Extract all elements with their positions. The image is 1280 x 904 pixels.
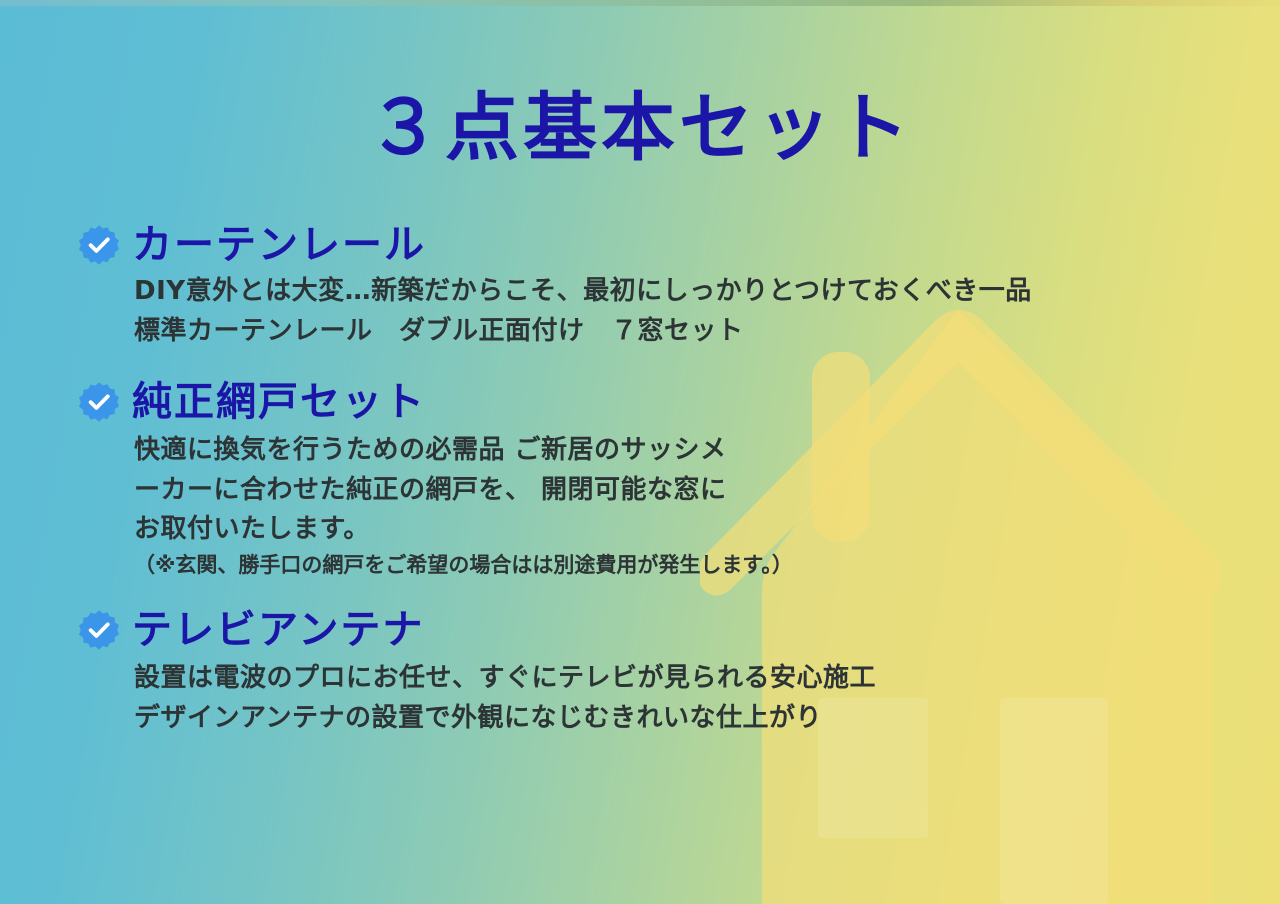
feature-description: 快適に換気を行うための必需品 ご新居のサッシメ ーカーに合わせた純正の網戸を、 … bbox=[134, 431, 1258, 581]
feature-heading: 純正網戸セット bbox=[78, 379, 1258, 425]
feature-description: DIY意外とは大変…新築だからこそ、最初にしっかりとつけておくべき一品 標準カー… bbox=[134, 272, 1258, 351]
feature-line: 標準カーテンレール ダブル正面付け ７窓セット bbox=[134, 312, 1258, 352]
feature-line: お取付いたします。 bbox=[134, 510, 1258, 550]
list-item: 純正網戸セット 快適に換気を行うための必需品 ご新居のサッシメ ーカーに合わせた… bbox=[78, 379, 1258, 581]
check-badge-icon bbox=[78, 381, 120, 423]
feature-heading: カーテンレール bbox=[78, 222, 1258, 268]
check-badge-icon bbox=[78, 609, 120, 651]
list-item: カーテンレール DIY意外とは大変…新築だからこそ、最初にしっかりとつけておくべ… bbox=[78, 222, 1258, 351]
list-item: テレビアンテナ 設置は電波のプロにお任せ、すぐにテレビが見られる安心施工 デザイ… bbox=[78, 607, 1258, 738]
feature-line: 快適に換気を行うための必需品 ご新居のサッシメ bbox=[134, 431, 1258, 471]
page-title: ３点基本セット bbox=[0, 88, 1280, 169]
feature-list: カーテンレール DIY意外とは大変…新築だからこそ、最初にしっかりとつけておくべ… bbox=[78, 222, 1258, 744]
feature-title: カーテンレール bbox=[132, 222, 426, 268]
feature-title: 純正網戸セット bbox=[132, 379, 426, 425]
poster-content: ３点基本セット カーテンレール DIY意外とは大変…新築だからこそ、最初にしっか… bbox=[0, 0, 1280, 904]
promotional-poster: ３点基本セット カーテンレール DIY意外とは大変…新築だからこそ、最初にしっか… bbox=[0, 0, 1280, 904]
check-badge-icon bbox=[78, 224, 120, 266]
feature-note: （※玄関、勝手口の網戸をご希望の場合はは別途費用が発生します。） bbox=[134, 550, 1258, 582]
feature-line: ーカーに合わせた純正の網戸を、 開閉可能な窓に bbox=[134, 471, 1258, 511]
feature-line: デザインアンテナの設置で外観になじむきれいな仕上がり bbox=[134, 699, 1258, 739]
feature-line: DIY意外とは大変…新築だからこそ、最初にしっかりとつけておくべき一品 bbox=[134, 272, 1258, 312]
feature-description: 設置は電波のプロにお任せ、すぐにテレビが見られる安心施工 デザインアンテナの設置… bbox=[134, 659, 1258, 738]
feature-title: テレビアンテナ bbox=[132, 607, 424, 653]
feature-line: 設置は電波のプロにお任せ、すぐにテレビが見られる安心施工 bbox=[134, 659, 1258, 699]
feature-heading: テレビアンテナ bbox=[78, 607, 1258, 653]
